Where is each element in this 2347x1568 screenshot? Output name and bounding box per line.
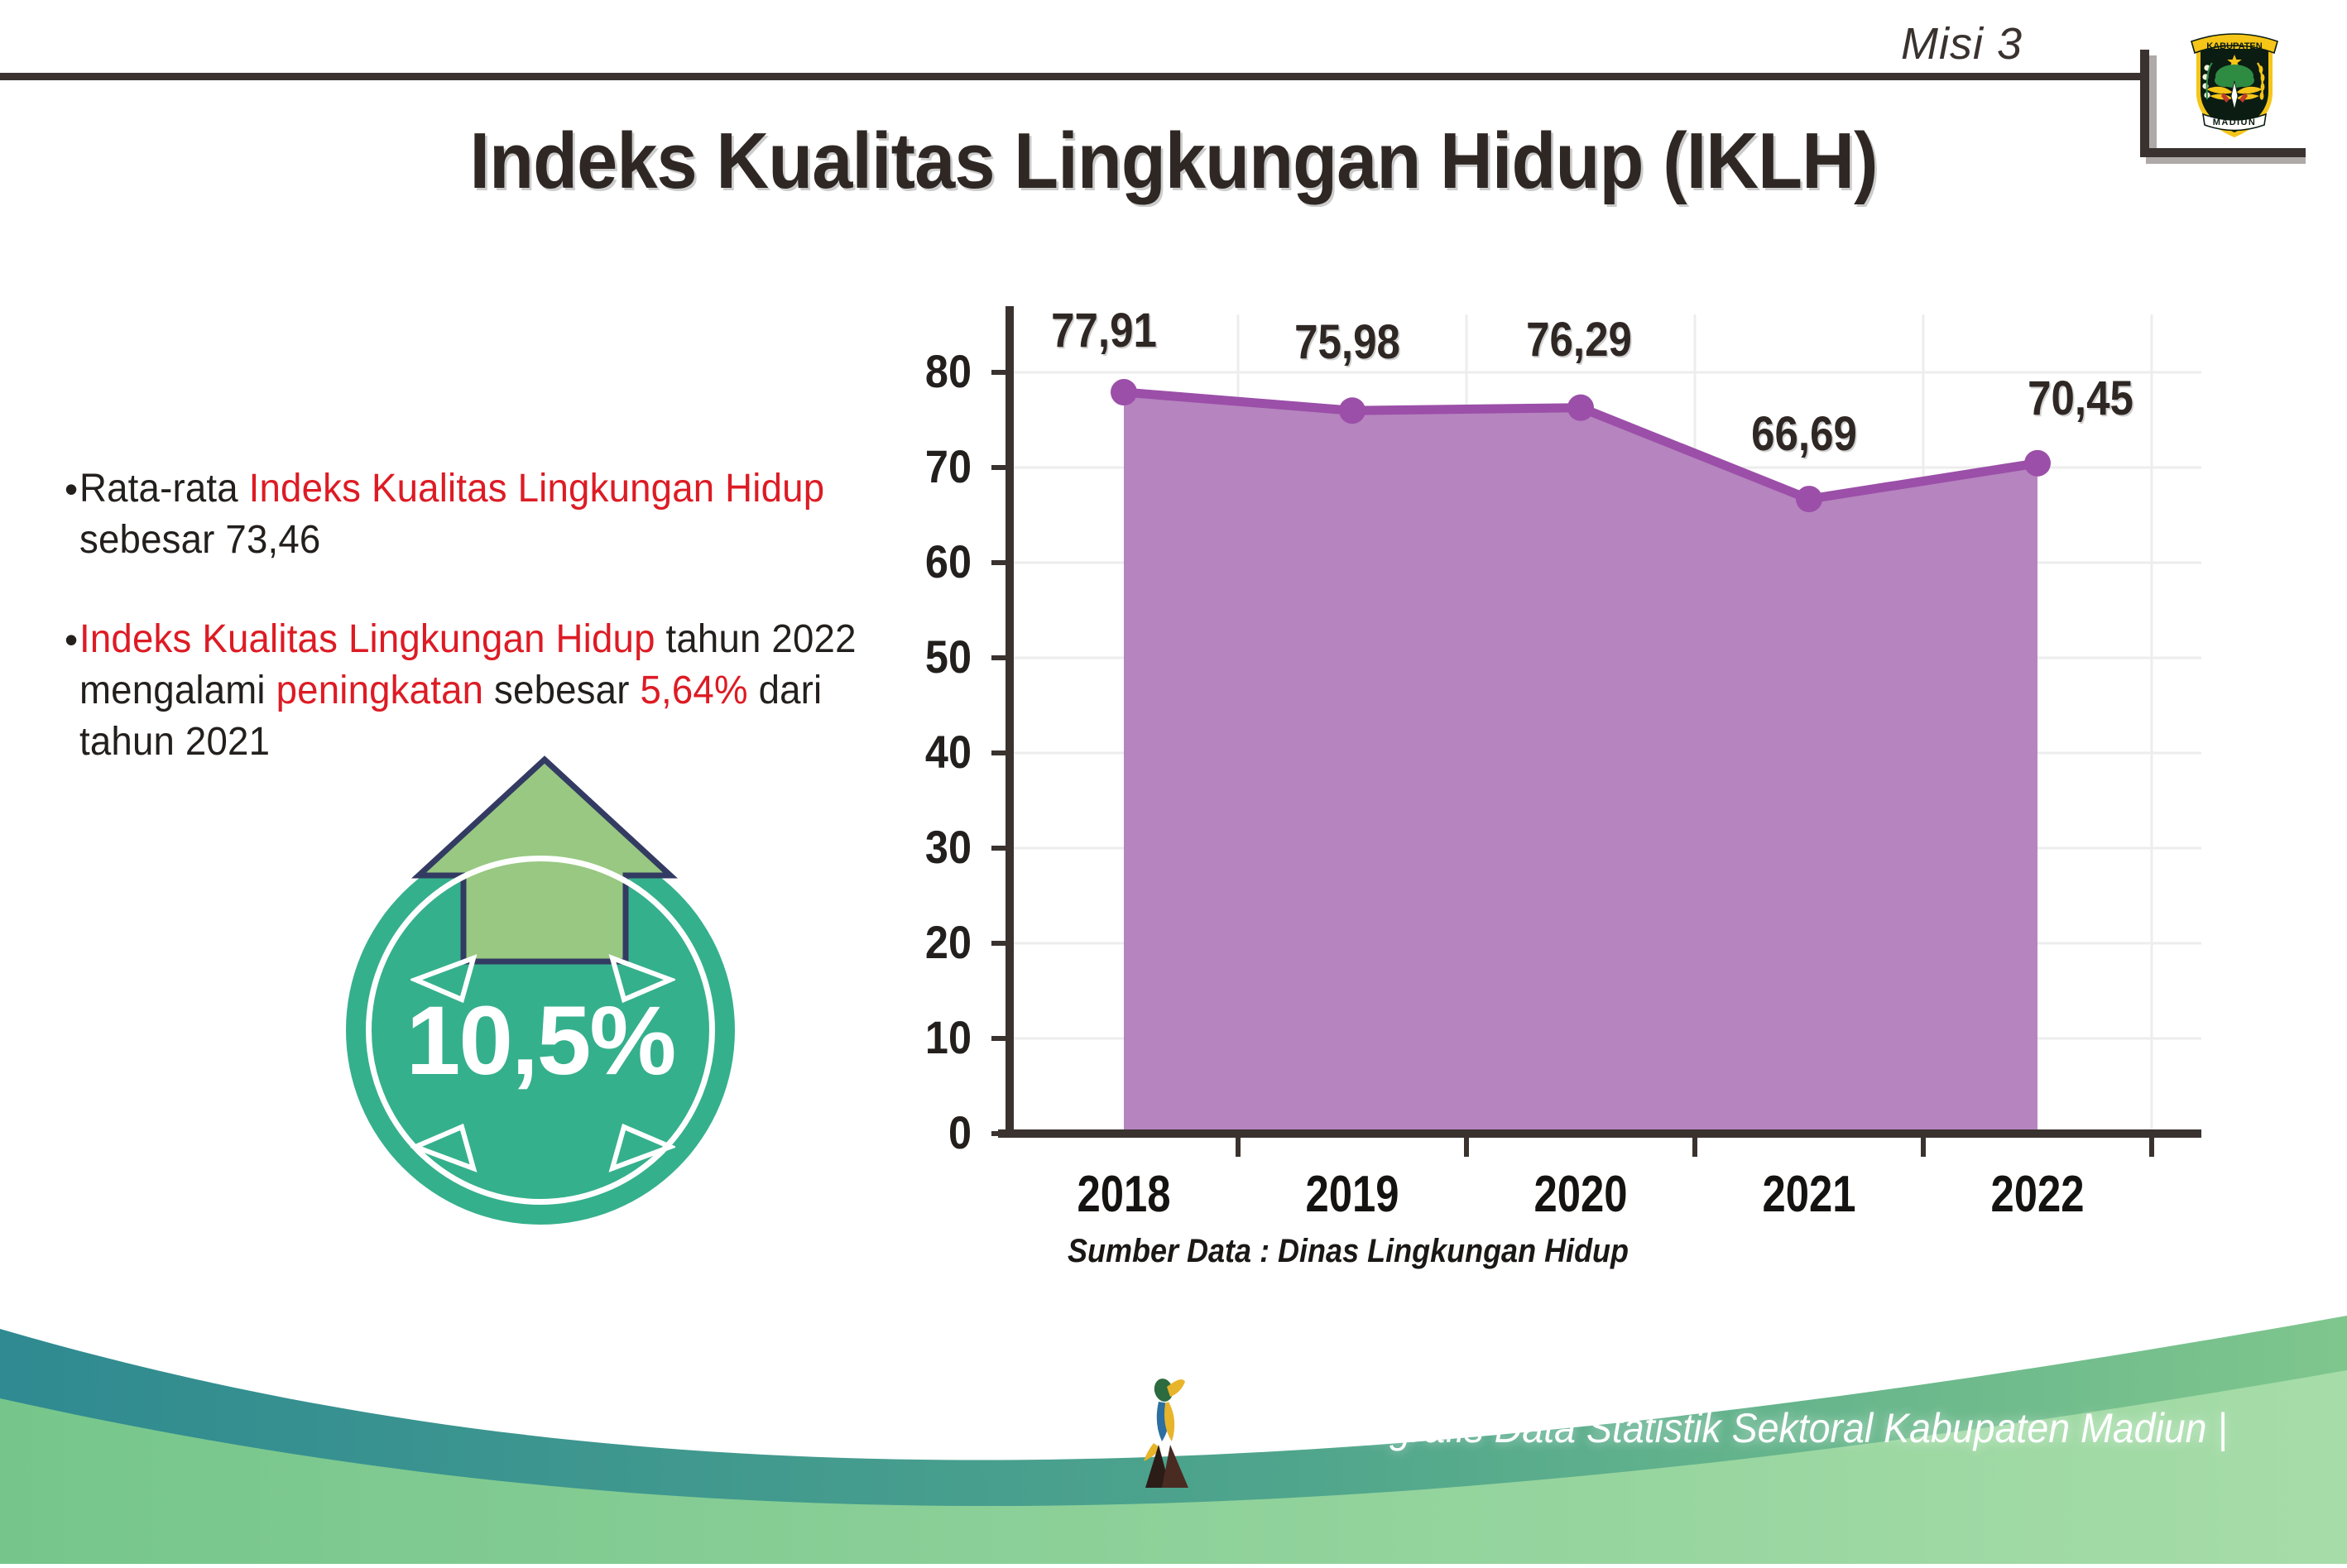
chart-area-series: [1124, 392, 2037, 1134]
y-axis-tick-label: 10: [882, 1010, 972, 1064]
seg-accent: Indeks Kualitas Lingkungan Hidup: [79, 617, 655, 661]
y-axis-tick-label: 50: [882, 630, 972, 683]
y-axis-tick-label: 70: [882, 439, 972, 493]
bullet-average: • Rata-rata Indeks Kualitas Lingkungan H…: [65, 463, 942, 566]
badge-value: 10,5%: [346, 985, 735, 1097]
badge-tick-arrow-bl: [410, 1119, 485, 1177]
bullet-average-text: Rata-rata Indeks Kualitas Lingkungan Hid…: [79, 463, 899, 566]
header-rule: [0, 73, 2143, 80]
badge-tick-arrow-br: [601, 1119, 675, 1177]
increase-badge: 10,5%: [313, 745, 776, 1225]
y-axis-tick-label: 60: [882, 535, 972, 588]
page-title: Indeks Kualitas Lingkungan Hidup (IKLH): [94, 116, 2253, 207]
iklh-area-chart: 01020304050607080 20182019202020212022 7…: [977, 290, 2201, 1167]
x-axis-tick-label: 2018: [1049, 1165, 1198, 1224]
y-axis-tick-label: 0: [882, 1105, 972, 1159]
footer-bar: Media Infografis Data Statistik Sektoral…: [0, 1291, 2347, 1564]
y-axis-tick-label: 40: [882, 725, 972, 779]
x-axis-tick-label: 2021: [1735, 1165, 1884, 1224]
seg: Rata-rata: [79, 467, 249, 511]
statistics-figure-logo-icon: [1134, 1372, 1208, 1496]
seg-accent: 5,64%: [641, 669, 748, 712]
y-axis-tick-label: 80: [882, 344, 972, 398]
y-axis-tick-label: 20: [882, 915, 972, 969]
seg: sebesar 73,46: [79, 518, 320, 562]
bullet-marker-icon: •: [65, 463, 78, 566]
chart-data-label: 70,45: [1993, 371, 2167, 426]
x-axis-tick-label: 2022: [1963, 1165, 2112, 1224]
footer-text: Media Infografis Data Statistik Sektoral…: [1210, 1404, 2228, 1452]
chart-source-note: Sumber Data : Dinas Lingkungan Hidup: [1068, 1233, 1629, 1270]
x-axis-tick-label: 2019: [1278, 1165, 1427, 1224]
seg: sebesar: [483, 669, 640, 712]
x-axis-tick-label: 2020: [1506, 1165, 1655, 1224]
seg-accent: Indeks Kualitas Lingkungan Hidup: [249, 467, 825, 511]
bullet-marker-icon: •: [65, 614, 78, 768]
emblem-top-banner-text: KABUPATEN: [2206, 41, 2262, 51]
chart-data-label: 66,69: [1716, 406, 1891, 462]
chart-data-label: 75,98: [1260, 314, 1434, 370]
chart-data-label: 76,29: [1491, 312, 1666, 367]
seg-accent: peningkatan: [276, 669, 484, 712]
y-axis-tick-label: 30: [882, 820, 972, 874]
chart-data-label: 77,91: [1016, 303, 1191, 358]
mission-label: Misi 3: [1901, 18, 2023, 70]
